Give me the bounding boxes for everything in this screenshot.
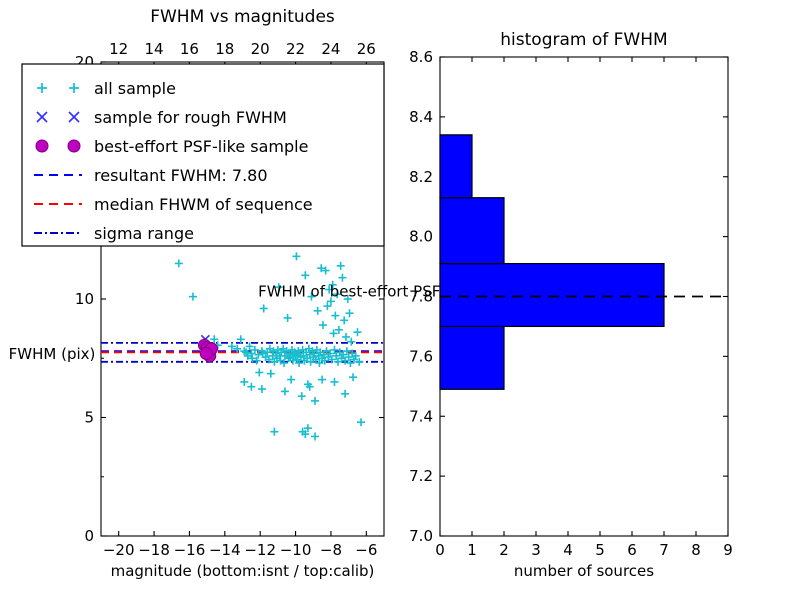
matplotlib-figure: −20−18−16−14−12−10−8−6121416182022242605… — [0, 0, 800, 600]
figure-canvas: −20−18−16−14−12−10−8−6121416182022242605… — [0, 0, 800, 600]
x-top-tick-label: 14 — [145, 40, 164, 58]
x-tick-label: 7 — [659, 541, 669, 559]
legend-item-label: best-effort PSF-like sample — [94, 137, 308, 156]
x-top-tick-label: 24 — [321, 40, 340, 58]
x-tick-label: 9 — [723, 541, 733, 559]
legend-item-label: sigma range — [94, 224, 194, 243]
circle-marker — [36, 140, 48, 152]
legend-item-label: resultant FWHM: 7.80 — [94, 166, 268, 185]
x-tick-label: −20 — [103, 541, 135, 559]
x-tick-label: 6 — [627, 541, 637, 559]
x-top-tick-label: 16 — [180, 40, 199, 58]
histogram-bar — [440, 198, 504, 264]
x-tick-label: −6 — [355, 541, 377, 559]
legend-item-label: sample for rough FWHM — [94, 108, 287, 127]
x-top-tick-label: 22 — [286, 40, 305, 58]
x-tick-label: 8 — [691, 541, 701, 559]
y-tick-label: 10 — [75, 290, 94, 308]
x-tick-label: 2 — [499, 541, 509, 559]
histogram-bar — [440, 135, 472, 198]
x-tick-label: −16 — [174, 541, 206, 559]
y-tick-label: 7.0 — [409, 527, 433, 545]
legend-item-label: all sample — [94, 79, 176, 98]
x-top-tick-label: 20 — [251, 40, 270, 58]
right-panel-title: histogram of FWHM — [500, 30, 667, 50]
y-tick-label: 0 — [84, 527, 94, 545]
histogram-bar — [440, 326, 504, 389]
y-tick-label: 8.6 — [409, 48, 433, 66]
x-top-tick-label: 18 — [215, 40, 234, 58]
left-panel-xlabel: magnitude (bottom:isnt / top:calib) — [111, 562, 375, 580]
left-panel-title: FWHM vs magnitudes — [150, 7, 335, 27]
histogram-bar — [440, 264, 664, 327]
y-tick-label: 7.4 — [409, 407, 433, 425]
left-panel-ylabel: FWHM (pix) — [9, 345, 96, 363]
x-tick-label: 0 — [435, 541, 445, 559]
x-tick-label: −10 — [280, 541, 312, 559]
y-tick-label: 8.2 — [409, 168, 433, 186]
y-tick-label: 7.6 — [409, 347, 433, 365]
x-top-tick-label: 26 — [357, 40, 376, 58]
y-tick-label: 5 — [84, 409, 94, 427]
y-tick-label: 8.4 — [409, 108, 433, 126]
y-tick-label: 7.2 — [409, 467, 433, 485]
x-tick-label: 4 — [563, 541, 573, 559]
y-tick-label: 8.0 — [409, 228, 433, 246]
x-tick-label: 1 — [467, 541, 477, 559]
right-panel-xlabel: number of sources — [514, 562, 654, 580]
x-tick-label: −14 — [209, 541, 241, 559]
circle-marker — [200, 348, 212, 360]
legend-item-label: median FHWM of sequence — [94, 195, 313, 214]
x-top-tick-label: 12 — [109, 40, 128, 58]
x-tick-label: −12 — [244, 541, 276, 559]
circle-marker — [68, 140, 80, 152]
x-tick-label: 3 — [531, 541, 541, 559]
legend-box: all samplesample for rough FWHMbest-effo… — [22, 64, 384, 246]
x-tick-label: −8 — [320, 541, 342, 559]
x-tick-label: 5 — [595, 541, 605, 559]
x-tick-label: −18 — [138, 541, 170, 559]
